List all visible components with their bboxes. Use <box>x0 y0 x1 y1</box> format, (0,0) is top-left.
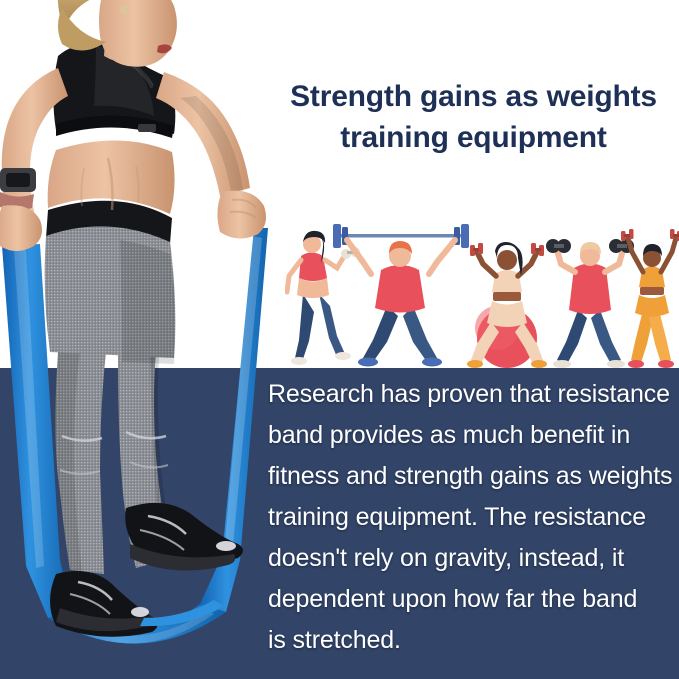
figure-man-shoulder-press <box>546 239 634 368</box>
figure-woman-on-exercise-ball <box>467 242 547 368</box>
page-title: Strength gains as weights training equip… <box>268 76 679 159</box>
model-photo <box>0 0 268 679</box>
description-line-7: is stretched. <box>268 620 674 661</box>
description-line-6: dependent upon how far the band <box>268 579 674 620</box>
product-infographic: Strength gains as weights training equip… <box>0 0 679 679</box>
exercise-figures-illustration <box>285 218 679 370</box>
description-line-4: training equipment. The resistance <box>268 497 674 538</box>
figure-woman-arms-raised <box>621 229 679 368</box>
page-title-line-1: Strength gains as weights <box>268 76 679 117</box>
description-line-5: doesn't rely on gravity, instead, it <box>268 538 674 579</box>
description-line-3: fitness and strength gains as weights <box>268 456 674 497</box>
figure-woman-with-dumbbell <box>287 231 360 365</box>
description-line-1: Research has proven that resistance <box>268 374 674 415</box>
description-line-2: band provides as much benefit in <box>268 415 674 456</box>
figure-man-overhead-barbell-press <box>333 224 469 367</box>
page-title-line-2: training equipment <box>268 117 679 158</box>
description-text: Research has proven that resistance band… <box>268 374 674 661</box>
